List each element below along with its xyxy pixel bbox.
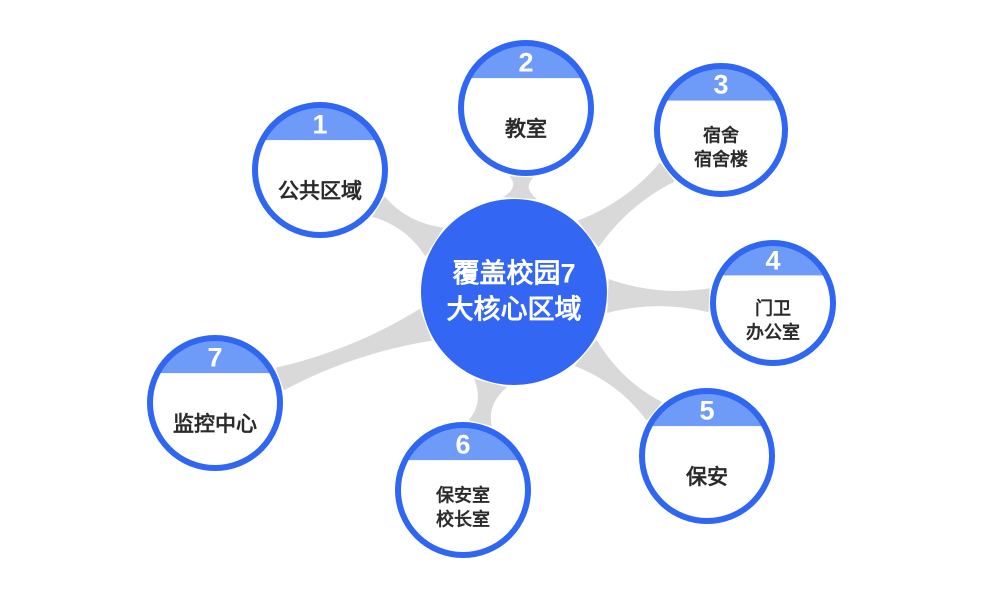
connector-center-to-node-3 — [578, 162, 675, 247]
node-hit-1[interactable] — [252, 102, 388, 238]
node-hit-7[interactable] — [147, 335, 283, 471]
node-hit-2[interactable] — [458, 40, 594, 176]
node-hit-5[interactable] — [639, 388, 775, 524]
node-hit-3[interactable] — [654, 63, 788, 197]
connector-center-to-node-7 — [276, 309, 432, 390]
center-hub-hit[interactable] — [421, 199, 607, 385]
connector-center-to-node-6 — [469, 379, 507, 426]
connector-center-to-node-2 — [503, 176, 537, 199]
connector-center-to-node-5 — [575, 340, 663, 421]
node-hit-4[interactable] — [710, 240, 836, 366]
diagram-canvas: 1公共区域2教室3宿舍宿舍楼4门卫办公室5保安6保安室校长室7监控中心覆盖校园7… — [0, 0, 1000, 600]
node-hit-6[interactable] — [395, 422, 531, 558]
connector-center-to-node-4 — [607, 279, 709, 313]
